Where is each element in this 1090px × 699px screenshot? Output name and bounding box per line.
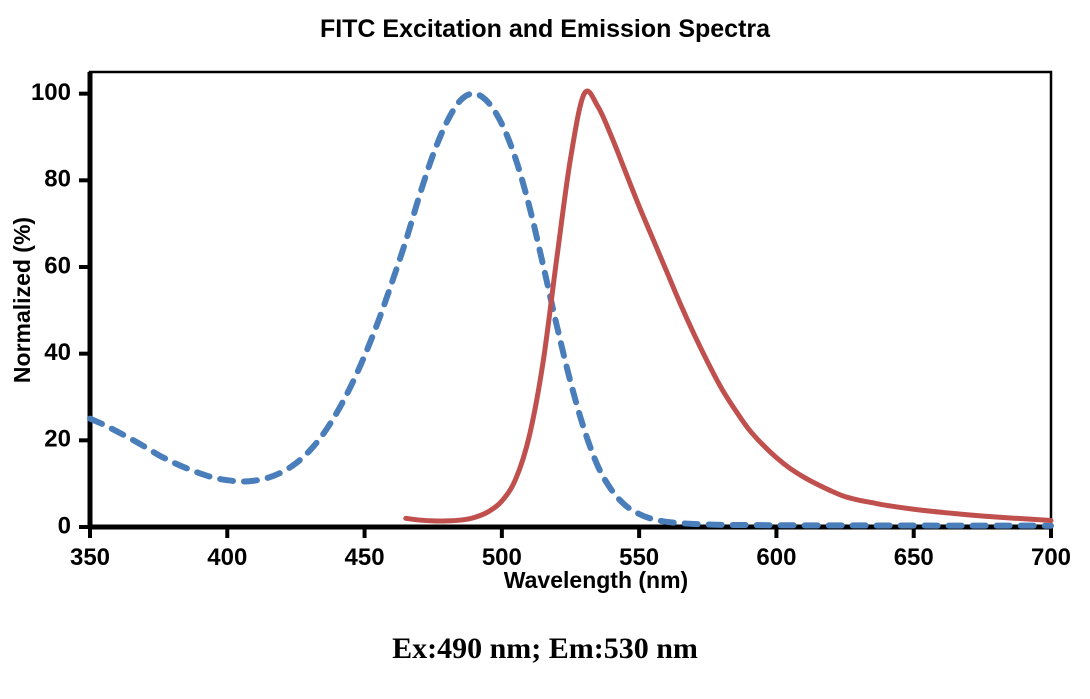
x-tick-label: 700	[1031, 544, 1071, 571]
chart-figure: FITC Excitation and Emission Spectra 020…	[0, 0, 1090, 699]
y-tick-label: 80	[44, 166, 71, 193]
x-axis-title: Wavelength (nm)	[504, 567, 688, 593]
x-tick-label: 650	[894, 544, 934, 571]
x-tick-label: 350	[70, 544, 110, 571]
x-tick-label: 600	[756, 544, 796, 571]
x-tick-label: 400	[207, 544, 247, 571]
x-axis-ticks: 350400450500550600650700	[70, 527, 1071, 571]
y-axis-title: Normalized (%)	[9, 217, 35, 383]
y-tick-label: 100	[31, 79, 71, 106]
y-tick-label: 20	[44, 426, 71, 453]
x-tick-label: 450	[345, 544, 385, 571]
figure-caption: Ex:490 nm; Em:530 nm	[0, 632, 1090, 666]
y-axis-ticks: 020406080100	[31, 79, 90, 539]
plot-frame	[90, 72, 1051, 527]
y-tick-label: 60	[44, 252, 71, 279]
plot-area: 020406080100 350400450500550600650700 Wa…	[0, 0, 1090, 699]
y-tick-label: 40	[44, 339, 71, 366]
y-tick-label: 0	[58, 512, 71, 539]
